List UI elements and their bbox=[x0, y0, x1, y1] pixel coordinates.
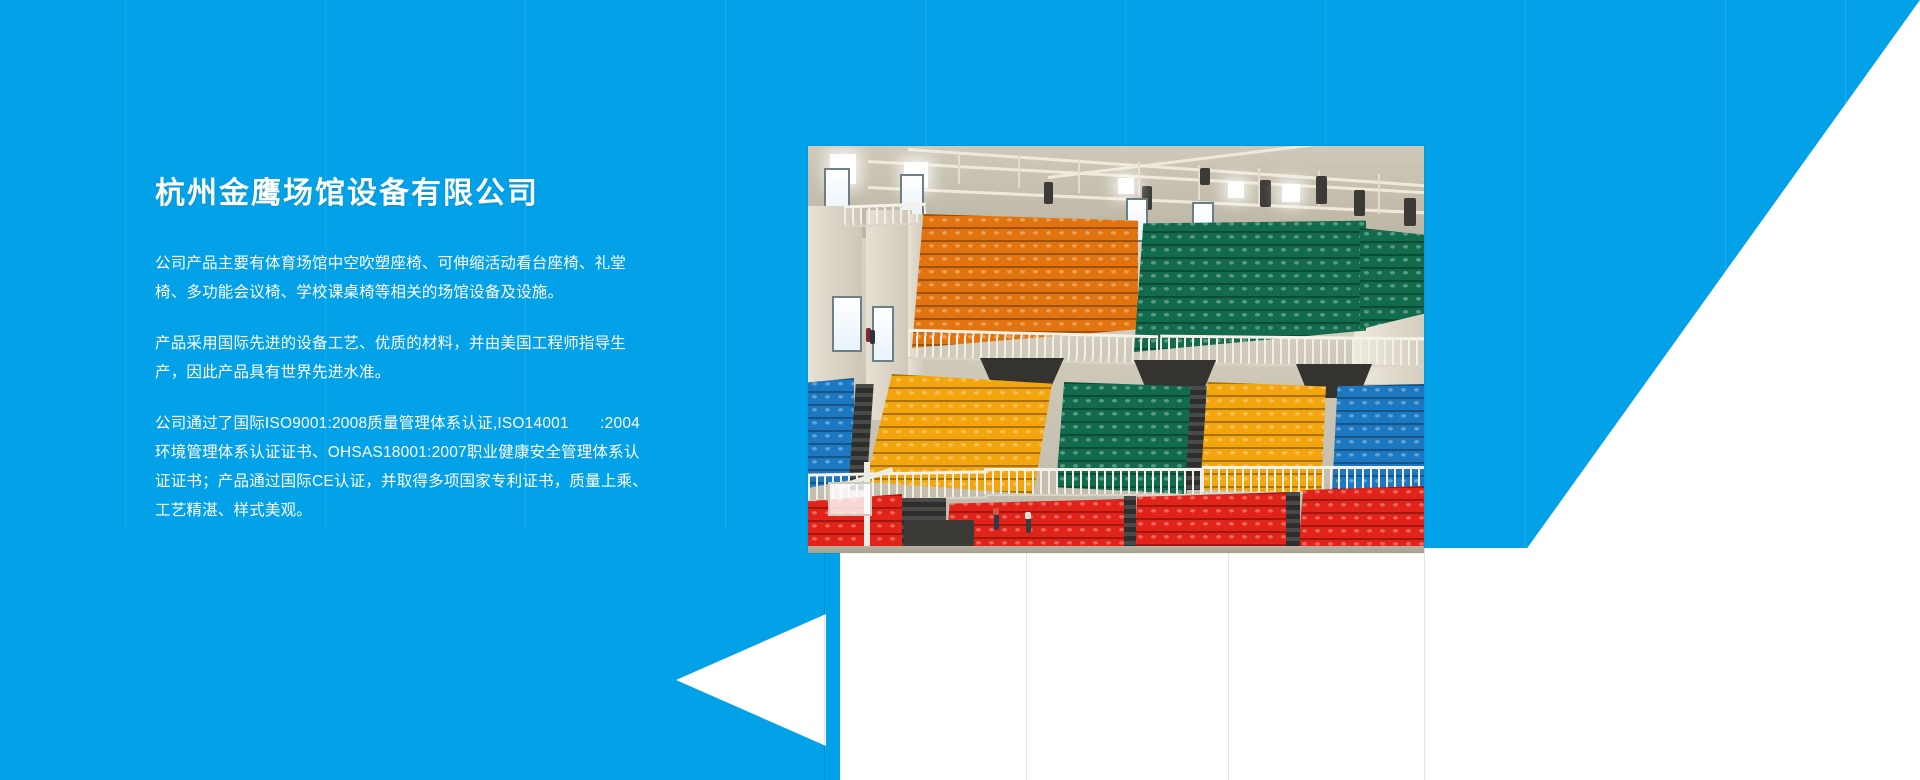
blue-bottom-left-mask bbox=[0, 530, 840, 780]
top-right-white-wedge bbox=[1490, 0, 1920, 600]
person-figure bbox=[870, 330, 875, 344]
hanging-speaker bbox=[1316, 176, 1327, 204]
lower-window bbox=[832, 296, 862, 352]
hero-banner: 杭州金鹰场馆设备有限公司 公司产品主要有体育场馆中空吹塑座椅、可伸缩活动看台座椅… bbox=[0, 0, 1920, 780]
person-figure bbox=[1026, 518, 1031, 533]
page-title: 杭州金鹰场馆设备有限公司 bbox=[155, 175, 675, 213]
seat-block-blue-left bbox=[808, 378, 854, 488]
hanging-speaker bbox=[1354, 190, 1365, 216]
hanging-speaker bbox=[1200, 168, 1210, 185]
ceiling-light bbox=[1228, 182, 1244, 198]
seat-block-green-upper bbox=[1134, 218, 1366, 352]
hanging-speaker bbox=[1260, 180, 1271, 207]
person-figure bbox=[1025, 512, 1031, 519]
truss-post bbox=[1078, 159, 1080, 193]
seat-block-red-right bbox=[1134, 492, 1290, 553]
truss-post bbox=[1378, 174, 1380, 214]
basketball-backboard bbox=[828, 482, 872, 516]
balcony-railing bbox=[844, 203, 927, 228]
band-divider-3 bbox=[1228, 548, 1229, 780]
intro-paragraph-quality: 产品采用国际先进的设备工艺、优质的材料，并由美国工程师指导生产，因此产品具有世界… bbox=[155, 329, 655, 387]
person-figure bbox=[993, 508, 999, 515]
photo-canvas bbox=[808, 146, 1424, 553]
bleacher-stairs bbox=[1286, 492, 1300, 553]
band-divider-2 bbox=[1026, 548, 1027, 780]
intro-paragraph-products: 公司产品主要有体育场馆中空吹塑座椅、可伸缩活动看台座椅、礼堂椅、多功能会议椅、学… bbox=[155, 249, 655, 307]
lower-railing bbox=[984, 468, 1204, 496]
bleacher-stairs bbox=[1124, 496, 1136, 553]
hanging-speaker bbox=[1044, 182, 1053, 204]
ceiling-light bbox=[1118, 178, 1134, 194]
hero-text-column: 杭州金鹰场馆设备有限公司 公司产品主要有体育场馆中空吹塑座椅、可伸缩活动看台座椅… bbox=[155, 175, 675, 525]
truss-post bbox=[1138, 162, 1140, 196]
person-figure bbox=[994, 514, 999, 530]
truss-post bbox=[958, 154, 960, 184]
gym-floor bbox=[808, 546, 1424, 553]
band-divider-1 bbox=[824, 548, 825, 780]
lower-window bbox=[872, 306, 894, 362]
gymnasium-photo: 体育馆彩色伸缩看台座椅实景图 bbox=[808, 146, 1424, 553]
hanging-speaker bbox=[1404, 198, 1416, 226]
seat-block-orange-upper bbox=[912, 214, 1138, 348]
intro-paragraph-certifications: 公司通过了国际ISO9001:2008质量管理体系认证,ISO14001 :20… bbox=[155, 409, 655, 525]
ceiling-light bbox=[1282, 184, 1300, 202]
band-divider-4 bbox=[1424, 548, 1425, 780]
seat-block-red-far-right bbox=[1298, 486, 1424, 553]
truss-post bbox=[1018, 156, 1020, 188]
